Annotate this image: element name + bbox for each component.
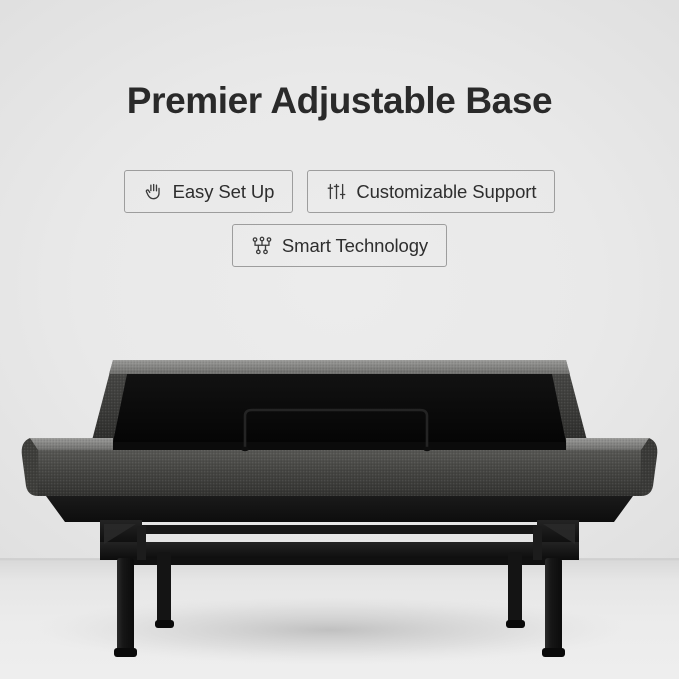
- headrest-panel: [90, 360, 589, 448]
- leg-front-right: [542, 558, 565, 657]
- page-title: Premier Adjustable Base: [0, 80, 679, 122]
- badge-customizable-support[interactable]: Customizable Support: [307, 170, 555, 213]
- hand-icon: [143, 181, 164, 202]
- leg-front-left: [114, 558, 137, 657]
- deck-skirt: [46, 496, 633, 522]
- sliders-icon: [326, 181, 347, 202]
- foot-deck: [22, 438, 658, 522]
- product-hero-image: Premier Adjustable Base Easy Set Up: [0, 0, 679, 679]
- badge-label: Smart Technology: [282, 235, 428, 257]
- badge-label: Customizable Support: [356, 181, 536, 203]
- badge-label: Easy Set Up: [173, 181, 275, 203]
- network-icon: [251, 235, 273, 257]
- retainer-post-left-base: [241, 447, 249, 451]
- headrest-deck: [113, 374, 566, 442]
- retainer-post-right-base: [423, 447, 431, 451]
- badge-smart-technology[interactable]: Smart Technology: [232, 224, 447, 267]
- rear-cross-rail: [118, 525, 561, 534]
- feature-badge-row-2: Smart Technology: [60, 224, 619, 267]
- front-main-rail: [100, 542, 579, 560]
- badge-easy-set-up[interactable]: Easy Set Up: [124, 170, 294, 213]
- adjustable-bed-base-image: [0, 330, 679, 679]
- right-inner-post: [533, 526, 542, 560]
- left-inner-post: [137, 526, 146, 560]
- feature-badge-list: Easy Set Up Customizable Support: [0, 170, 679, 267]
- front-lower-rail: [118, 558, 561, 565]
